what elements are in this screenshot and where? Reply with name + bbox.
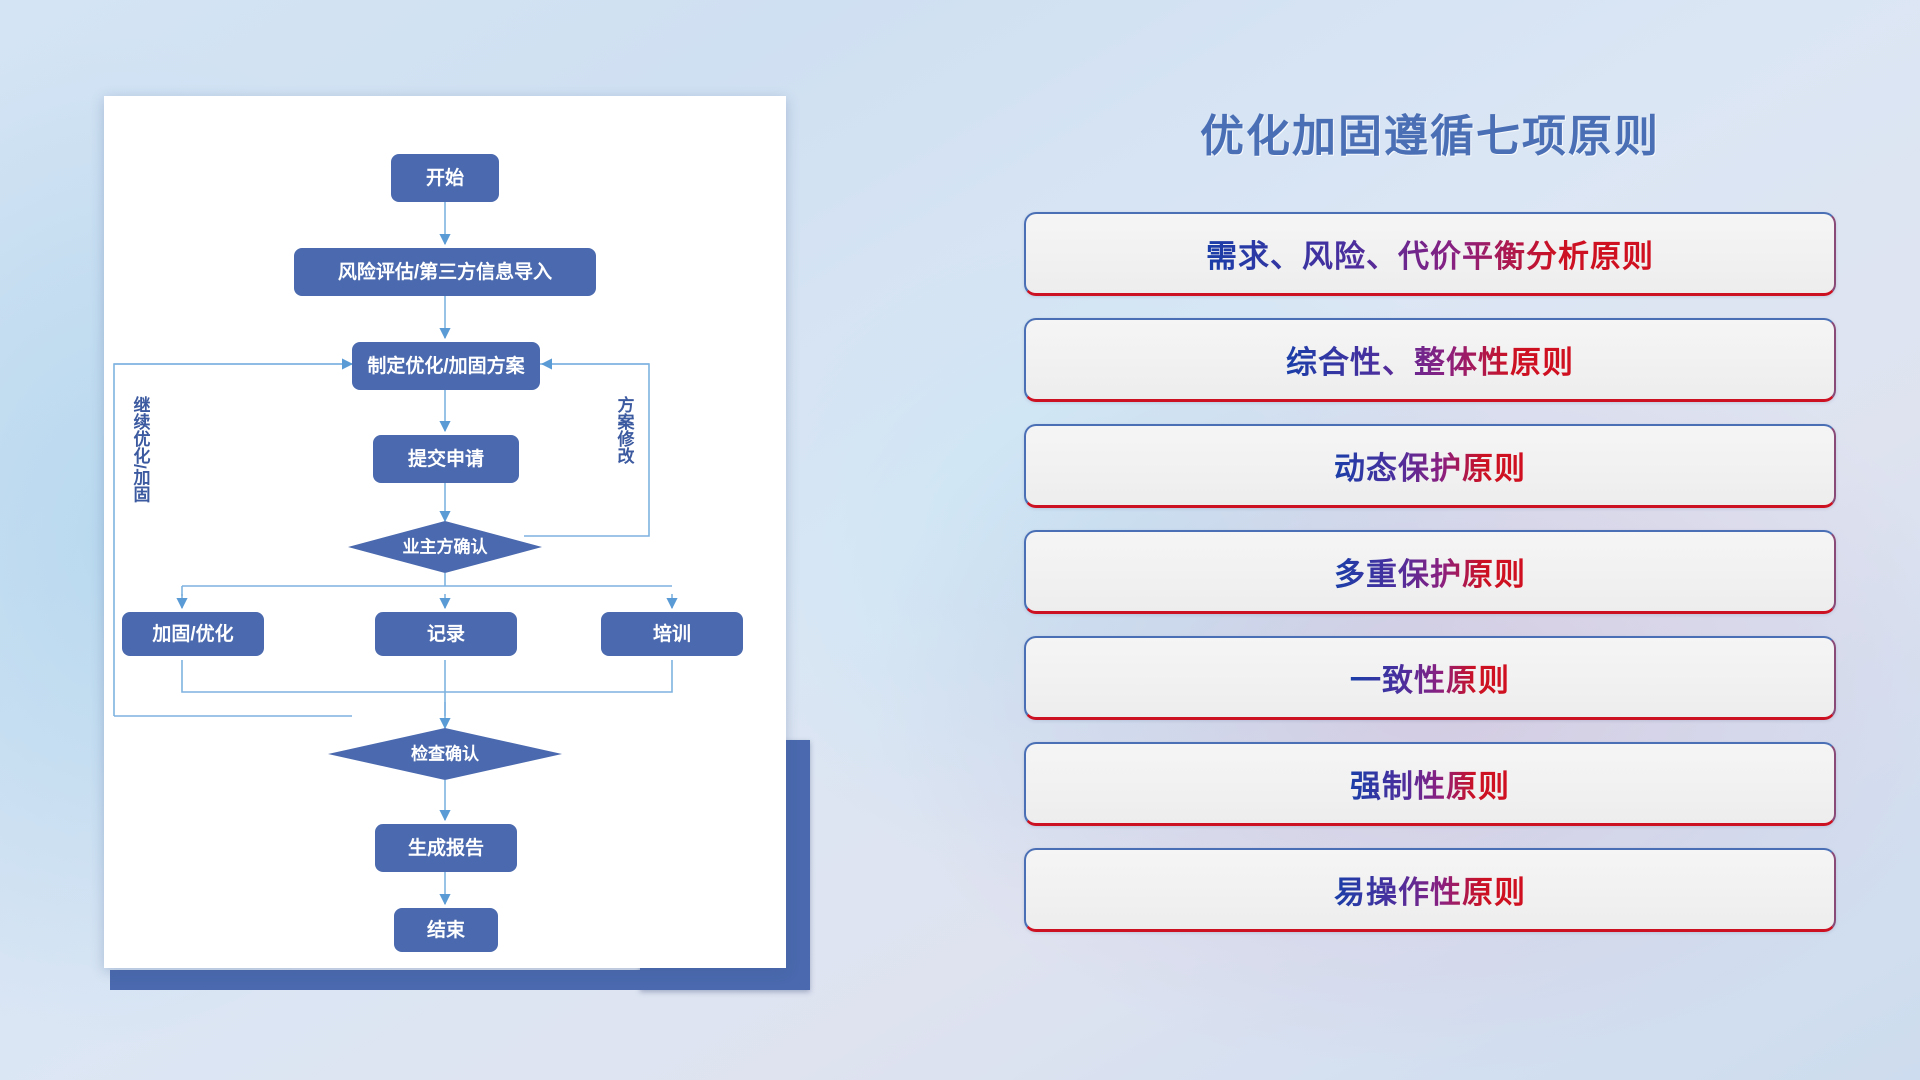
node-risk-label: 风险评估/第三方信息导入 (338, 260, 552, 283)
connector-merge-bus (182, 660, 672, 692)
connector-left-loop-down (114, 364, 354, 716)
node-training[interactable]: 培训 (601, 612, 743, 656)
node-reinforce-label: 加固/优化 (151, 622, 233, 645)
node-submit-label: 提交申请 (408, 447, 484, 470)
principle-label: 多重保护原则 (1334, 549, 1526, 594)
flowchart-card: 开始 风险评估/第三方信息导入 制定优化/加固方案 提交申请 业主方确认 加固/ (104, 96, 786, 968)
node-submit[interactable]: 提交申请 (373, 435, 519, 483)
panel-title: 优化加固遵循七项原则 (1010, 100, 1850, 164)
principle-card[interactable]: 需求、风险、代价平衡分析原则 (1024, 212, 1836, 296)
node-end[interactable]: 结束 (394, 908, 498, 952)
principle-card[interactable]: 综合性、整体性原则 (1024, 318, 1836, 402)
node-end-label: 结束 (427, 918, 466, 941)
principle-label: 动态保护原则 (1334, 443, 1526, 488)
principles-panel: 优化加固遵循七项原则 需求、风险、代价平衡分析原则 综合性、整体性原则 动态保护… (1010, 80, 1850, 1010)
principle-card[interactable]: 一致性原则 (1024, 636, 1836, 720)
principles-list: 需求、风险、代价平衡分析原则 综合性、整体性原则 动态保护原则 多重保护原则 一… (1010, 212, 1850, 932)
node-report-label: 生成报告 (408, 836, 484, 859)
slide-canvas: 开始 风险评估/第三方信息导入 制定优化/加固方案 提交申请 业主方确认 加固/ (0, 0, 1920, 1080)
node-training-label: 培训 (653, 622, 691, 645)
node-record[interactable]: 记录 (375, 612, 517, 656)
edge-label-right-loop: 方案修改 (615, 395, 636, 465)
flowchart-svg: 开始 风险评估/第三方信息导入 制定优化/加固方案 提交申请 业主方确认 加固/ (104, 96, 786, 968)
node-reinforce[interactable]: 加固/优化 (122, 612, 264, 656)
edge-label-left-loop: 继续优化/加固 (131, 395, 152, 504)
principle-label: 强制性原则 (1350, 761, 1510, 806)
node-start-label: 开始 (426, 166, 464, 189)
principle-card[interactable]: 多重保护原则 (1024, 530, 1836, 614)
node-start[interactable]: 开始 (391, 154, 499, 202)
node-report[interactable]: 生成报告 (375, 824, 517, 872)
principle-card[interactable]: 易操作性原则 (1024, 848, 1836, 932)
principle-label: 一致性原则 (1350, 655, 1510, 700)
principle-label: 易操作性原则 (1334, 867, 1526, 912)
principle-card[interactable]: 动态保护原则 (1024, 424, 1836, 508)
node-check-confirm-label: 检查确认 (411, 743, 480, 763)
node-risk-assessment[interactable]: 风险评估/第三方信息导入 (294, 248, 596, 296)
node-record-label: 记录 (427, 623, 465, 645)
node-plan-label: 制定优化/加固方案 (367, 354, 525, 377)
node-owner-confirm-label: 业主方确认 (403, 536, 489, 556)
principle-label: 需求、风险、代价平衡分析原则 (1206, 231, 1654, 276)
node-owner-confirm[interactable]: 业主方确认 (348, 521, 542, 573)
principle-card[interactable]: 强制性原则 (1024, 742, 1836, 826)
node-plan[interactable]: 制定优化/加固方案 (352, 342, 540, 390)
principle-label: 综合性、整体性原则 (1286, 337, 1574, 382)
node-check-confirm[interactable]: 检查确认 (328, 728, 562, 780)
